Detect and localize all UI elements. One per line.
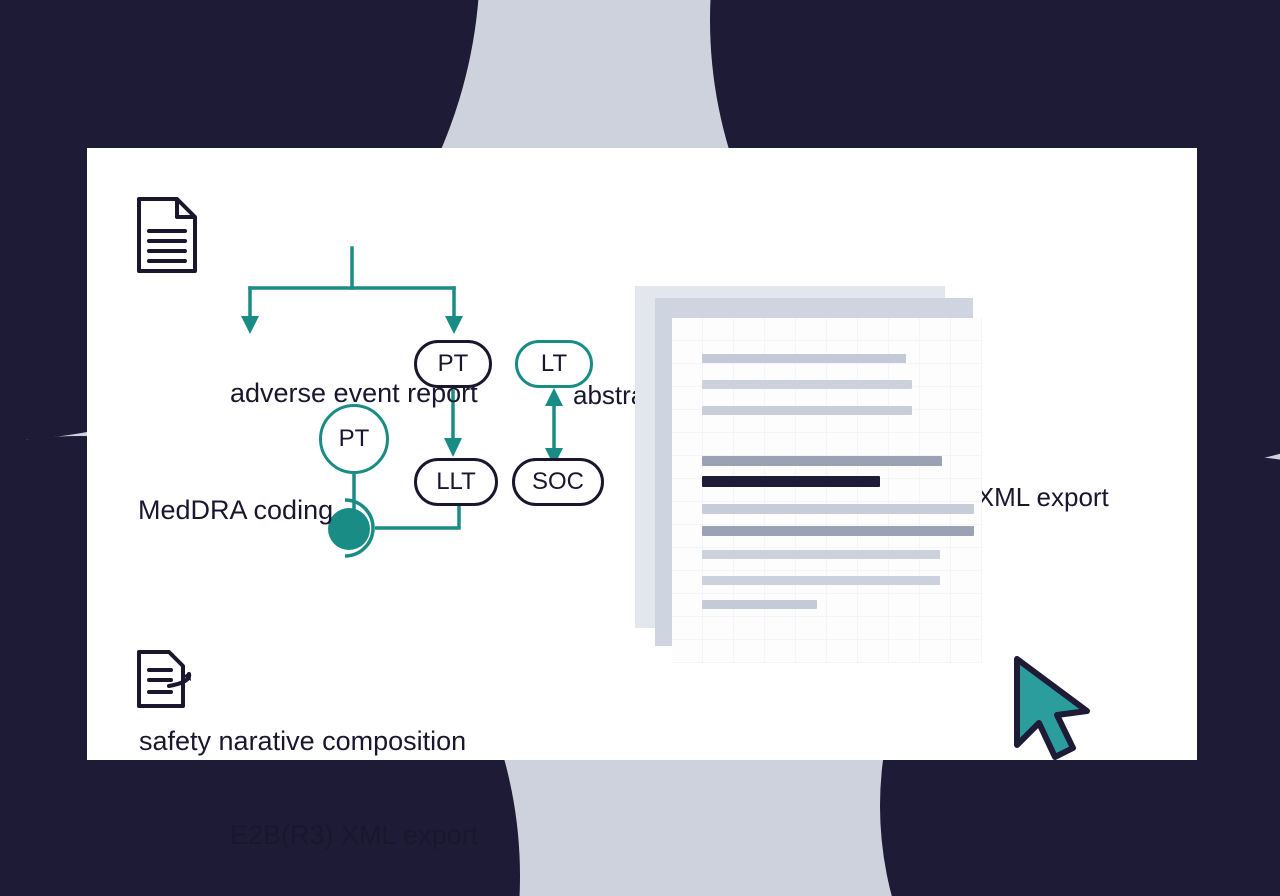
flow-node-label: PT: [438, 350, 469, 378]
background-band-top: [0, 0, 460, 60]
document-text-line: [702, 526, 974, 536]
document-text-line: [702, 576, 940, 585]
document-text-line: [702, 354, 906, 363]
document-icon: [135, 195, 199, 280]
label-e2b-r3-xml-export: E2B(R3) XML export: [230, 820, 478, 851]
document-text-line: [702, 550, 940, 559]
flow-node-label: LLT: [436, 468, 476, 496]
flow-node-soc[interactable]: SOC: [512, 458, 604, 506]
document-text-line: [702, 406, 912, 415]
document-text-line: [702, 476, 880, 487]
label-safety-narrative-composition: safety narative composition: [139, 726, 466, 757]
document-text-line: [702, 380, 912, 389]
screenshot-canvas: PT LT LLT SOC PT adverse event report Me…: [0, 0, 1280, 896]
document-grid: [672, 318, 982, 663]
flow-node-llt[interactable]: LLT: [414, 458, 498, 506]
flow-node-label: LT: [541, 350, 567, 378]
document-export-icon: [135, 648, 207, 719]
content-card: PT LT LLT SOC PT adverse event report Me…: [87, 148, 1197, 760]
cursor-pointer-icon: [1007, 653, 1099, 770]
document-text-line: [702, 504, 974, 514]
label-meddra-coding: MedDRA coding: [138, 495, 333, 526]
label-adverse-event-report: adverse event report: [230, 378, 478, 409]
flow-node-label: PT: [339, 425, 370, 453]
document-stack[interactable]: [635, 286, 995, 681]
document-text-line: [702, 600, 817, 609]
flow-node-pt-circle[interactable]: PT: [319, 404, 389, 474]
document-text-line: [702, 456, 942, 466]
flow-node-label: SOC: [532, 468, 584, 496]
flow-node-dot: [328, 508, 370, 550]
